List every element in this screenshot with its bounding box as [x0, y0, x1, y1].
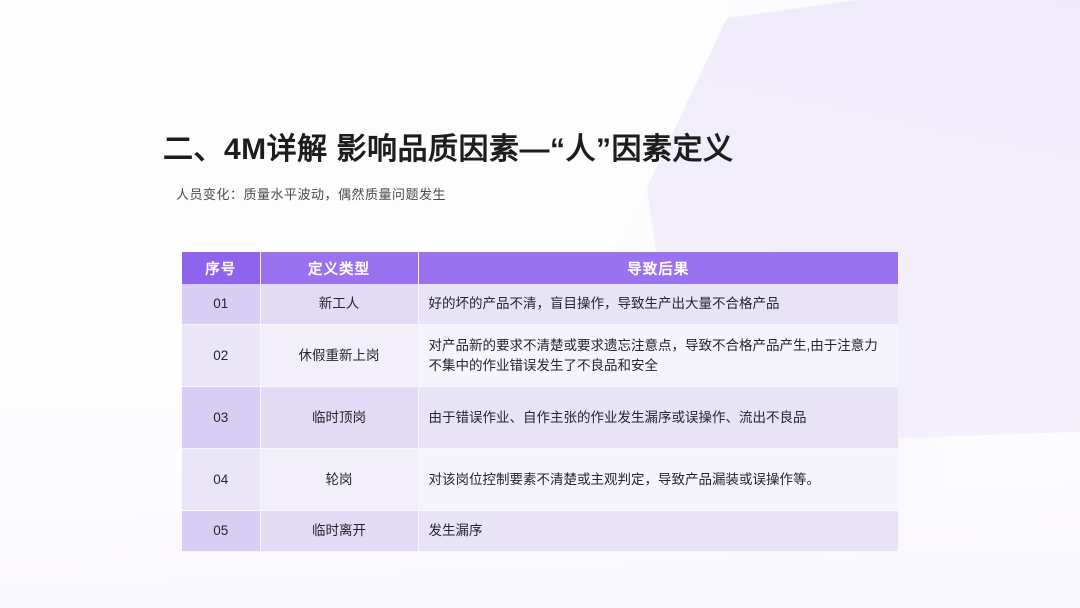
- cell-type: 休假重新上岗: [260, 325, 418, 387]
- cell-type: 临时离开: [260, 511, 418, 552]
- cell-no: 03: [182, 387, 260, 449]
- factors-table: 序号 定义类型 导致后果 01 新工人 好的坏的产品不清，盲目操作，导致生产出大…: [182, 252, 898, 552]
- table-header: 序号 定义类型 导致后果: [182, 252, 898, 284]
- cell-no: 02: [182, 325, 260, 387]
- table-row: 05 临时离开 发生漏序: [182, 511, 898, 552]
- table-header-row: 序号 定义类型 导致后果: [182, 252, 898, 284]
- cell-result: 对产品新的要求不清楚或要求遗忘注意点，导致不合格产品产生,由于注意力不集中的作业…: [418, 325, 898, 387]
- table-row: 04 轮岗 对该岗位控制要素不清楚或主观判定，导致产品漏装或误操作等。: [182, 449, 898, 511]
- column-header-result: 导致后果: [418, 252, 898, 284]
- cell-result: 发生漏序: [418, 511, 898, 552]
- cell-no: 05: [182, 511, 260, 552]
- column-header-no: 序号: [182, 252, 260, 284]
- table-body: 01 新工人 好的坏的产品不清，盲目操作，导致生产出大量不合格产品 02 休假重…: [182, 284, 898, 552]
- cell-result: 对该岗位控制要素不清楚或主观判定，导致产品漏装或误操作等。: [418, 449, 898, 511]
- table-row: 02 休假重新上岗 对产品新的要求不清楚或要求遗忘注意点，导致不合格产品产生,由…: [182, 325, 898, 387]
- cell-result: 好的坏的产品不清，盲目操作，导致生产出大量不合格产品: [418, 284, 898, 325]
- cell-type: 临时顶岗: [260, 387, 418, 449]
- cell-result: 由于错误作业、自作主张的作业发生漏序或误操作、流出不良品: [418, 387, 898, 449]
- page-subtitle: 人员变化：质量水平波动，偶然质量问题发生: [176, 184, 446, 203]
- table-row: 01 新工人 好的坏的产品不清，盲目操作，导致生产出大量不合格产品: [182, 284, 898, 325]
- factors-table-wrapper: 序号 定义类型 导致后果 01 新工人 好的坏的产品不清，盲目操作，导致生产出大…: [182, 252, 898, 552]
- cell-type: 轮岗: [260, 449, 418, 511]
- cell-no: 01: [182, 284, 260, 325]
- table-row: 03 临时顶岗 由于错误作业、自作主张的作业发生漏序或误操作、流出不良品: [182, 387, 898, 449]
- column-header-type: 定义类型: [260, 252, 418, 284]
- cell-no: 04: [182, 449, 260, 511]
- cell-type: 新工人: [260, 284, 418, 325]
- slide-canvas: 二、4M详解 影响品质因素—“人”因素定义 人员变化：质量水平波动，偶然质量问题…: [0, 0, 1080, 608]
- page-title: 二、4M详解 影响品质因素—“人”因素定义: [163, 124, 734, 168]
